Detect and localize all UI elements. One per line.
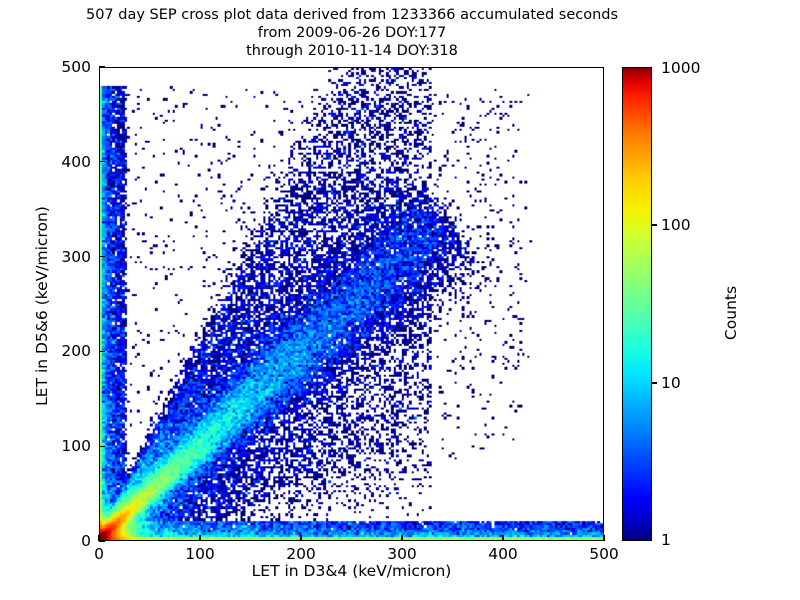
x-tick-mark: [502, 535, 503, 541]
x-tick-label: 400: [488, 545, 518, 563]
y-tick-mark: [99, 351, 105, 352]
colorbar-tick-label: 1: [661, 531, 671, 549]
x-tick-mark: [603, 535, 604, 541]
y-axis-label: LET in D5&6 (keV/micron): [33, 146, 51, 466]
plot-axes: [99, 67, 604, 541]
x-tick-label: 500: [589, 545, 619, 563]
colorbar-gradient: [622, 67, 652, 541]
y-tick-mark: [99, 256, 105, 257]
title-line-2: from 2009-06-26 DOY:177: [0, 24, 704, 42]
x-axis-label: LET in D3&4 (keV/micron): [99, 562, 604, 580]
chart-title: 507 day SEP cross plot data derived from…: [0, 6, 704, 60]
x-tick-mark: [199, 535, 200, 541]
x-tick-label: 300: [387, 545, 417, 563]
y-tick-label: 500: [37, 58, 91, 76]
x-tick-label: 200: [286, 545, 316, 563]
colorbar-tick-mark: [652, 224, 657, 225]
colorbar-tick-label: 10: [661, 374, 681, 392]
x-tick-label: 0: [94, 545, 104, 563]
y-tick-label: 0: [37, 532, 91, 550]
x-tick-mark: [300, 535, 301, 541]
colorbar: [622, 67, 652, 541]
x-tick-label: 100: [185, 545, 215, 563]
x-tick-mark: [401, 535, 402, 541]
y-tick-mark: [99, 540, 105, 541]
colorbar-tick-label: 1000: [661, 59, 700, 77]
y-tick-mark: [99, 446, 105, 447]
figure-canvas: 507 day SEP cross plot data derived from…: [0, 0, 800, 600]
title-line-1: 507 day SEP cross plot data derived from…: [0, 6, 704, 24]
title-line-3: through 2010-11-14 DOY:318: [0, 42, 704, 60]
colorbar-tick-mark: [652, 382, 657, 383]
scatter-heatmap-canvas: [100, 68, 603, 540]
colorbar-label: Counts: [722, 213, 740, 413]
colorbar-tick-label: 100: [661, 216, 691, 234]
y-tick-mark: [99, 66, 105, 67]
y-tick-mark: [99, 161, 105, 162]
